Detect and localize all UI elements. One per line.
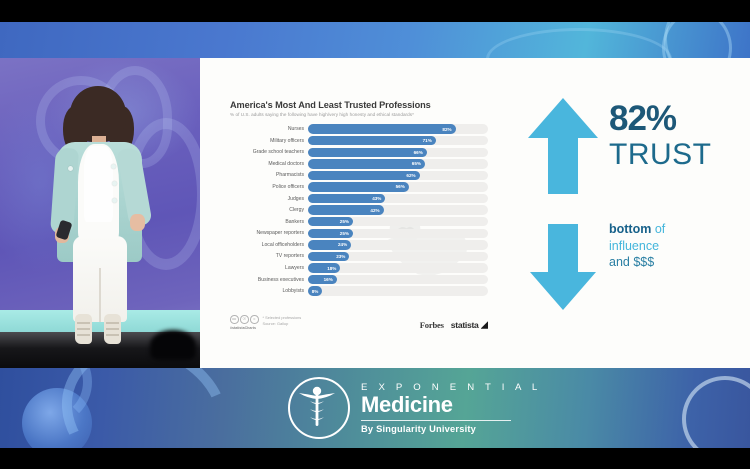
- hair-top: [70, 86, 126, 142]
- chart-row-value: 62%: [406, 173, 419, 178]
- chart-row-bar: 24%: [308, 240, 351, 249]
- by-icon: ☉: [240, 315, 249, 324]
- boot-right: [104, 314, 121, 344]
- footer-notes: * Selected professions Source: Gallup: [263, 315, 302, 326]
- chart-row-track: 71%: [308, 136, 488, 145]
- chart-row-value: 25%: [340, 219, 353, 224]
- chart-row-track: 16%: [308, 275, 488, 284]
- trust-callout: 82% TRUST bottom of influence and $$$: [516, 96, 741, 311]
- chart-row-label: Pharmacists: [230, 170, 308, 180]
- foreground-shadow: [150, 330, 196, 360]
- forbes-logo: Forbes: [420, 320, 444, 330]
- chart-row-bar: 65%: [308, 159, 425, 168]
- hand-right: [130, 214, 145, 231]
- chart-row-track: 25%: [308, 229, 488, 238]
- video-frame: America's Most And Least Trusted Profess…: [0, 0, 750, 469]
- chart-row-label: Judges: [230, 194, 308, 204]
- chart-row: Grade school teachers66%: [230, 147, 488, 157]
- chart-row-value: 43%: [372, 196, 385, 201]
- boot-left: [75, 314, 92, 344]
- blazer-button: [112, 198, 117, 203]
- letterbox-top: [0, 0, 750, 22]
- chart-row-value: 23%: [336, 254, 349, 259]
- chart-row-track: 24%: [308, 240, 488, 249]
- boot-lace: [77, 322, 90, 324]
- bottom-influence-note: bottom of influence and $$$: [609, 221, 665, 271]
- boot-lace: [77, 328, 90, 330]
- chart-row-track: 62%: [308, 171, 488, 180]
- caduceus-icon: [288, 377, 350, 439]
- chart-row-value: 18%: [327, 266, 340, 271]
- trust-heading: 82% TRUST: [609, 100, 712, 171]
- chart-row-label: Police officers: [230, 182, 308, 192]
- chart-row-bar: 71%: [308, 136, 436, 145]
- blazer-button: [112, 181, 117, 186]
- chart-row-value: 56%: [396, 184, 409, 189]
- chart-row-value: 71%: [423, 138, 436, 143]
- chart-body: America's Most And Least Trusted Profess…: [230, 100, 488, 298]
- speaker-person: [44, 86, 156, 341]
- bottom-line-1: bottom of: [609, 221, 665, 238]
- chart-row-track: 18%: [308, 263, 488, 272]
- chart-row-track: 25%: [308, 217, 488, 226]
- chart-row-label: Lobbyists: [230, 286, 308, 296]
- chart-footer: cc ☉ = #statistaCharts * Selected profes…: [230, 315, 488, 330]
- statista-logo: statista: [451, 320, 488, 330]
- bottom-of: of: [651, 222, 665, 236]
- caduceus-glyph: [290, 379, 344, 433]
- boot-lace: [106, 328, 119, 330]
- statista-mark-icon: [481, 321, 489, 329]
- chart-row-bar: 25%: [308, 217, 353, 226]
- chart-row-bar: 8%: [308, 286, 322, 295]
- chart-row-value: 42%: [370, 208, 383, 213]
- chart-row-bar: 25%: [308, 229, 353, 238]
- decorative-ring: [682, 376, 750, 448]
- chart-row-label: Nurses: [230, 124, 308, 134]
- chart-row-bar: 43%: [308, 194, 385, 203]
- chart-row-value: 66%: [414, 150, 427, 155]
- chart-row-bar: 18%: [308, 263, 340, 272]
- chart-row: Local officeholders24%: [230, 240, 488, 250]
- blazer-button: [68, 166, 73, 171]
- chart-row: Medical doctors65%: [230, 159, 488, 169]
- chart-row: Newspaper reporters25%: [230, 228, 488, 238]
- arrow-down-icon: [526, 222, 600, 312]
- statista-wordmark: statista: [451, 320, 479, 330]
- chart-row-track: 43%: [308, 194, 488, 203]
- bottom-line-3: and $$$: [609, 254, 665, 271]
- swirl-shape: [486, 28, 672, 58]
- chart-row-bar: 66%: [308, 148, 427, 157]
- chart-row-label: Bankers: [230, 217, 308, 227]
- chart-row-track: 65%: [308, 159, 488, 168]
- chart-row-bar: 82%: [308, 124, 456, 133]
- chart-row: Bankers25%: [230, 217, 488, 227]
- chart-row-value: 65%: [412, 161, 425, 166]
- boot-lace: [77, 334, 90, 336]
- cc-icon: cc: [230, 315, 239, 324]
- leg-separation: [99, 268, 101, 322]
- exponential-medicine-logo: E X P O N E N T I A L Medicine By Singul…: [288, 377, 541, 439]
- chart-row-track: 8%: [308, 286, 488, 295]
- chart-row-bar: 42%: [308, 205, 384, 214]
- chart-row: Lobbyists8%: [230, 286, 488, 296]
- chart-row: Nurses82%: [230, 124, 488, 134]
- trust-label: TRUST: [609, 138, 712, 171]
- chart-row-label: Medical doctors: [230, 159, 308, 169]
- bottom-word: bottom: [609, 222, 651, 236]
- footer-logos: Forbes statista: [420, 320, 488, 330]
- chart-row: Military officers71%: [230, 136, 488, 146]
- chart-row-label: Local officeholders: [230, 240, 308, 250]
- footer-left: cc ☉ = #statistaCharts * Selected profes…: [230, 315, 301, 330]
- chart-row-value: 8%: [312, 289, 323, 294]
- chart-row-bar: 56%: [308, 182, 409, 191]
- chart-row: Police officers56%: [230, 182, 488, 192]
- chart-row: Business executives16%: [230, 275, 488, 285]
- chart-row-bar: 62%: [308, 171, 420, 180]
- chart-row-value: 82%: [442, 127, 455, 132]
- chart-row-label: Newspaper reporters: [230, 228, 308, 238]
- cc-icon-row: cc ☉ =: [230, 315, 259, 324]
- nd-icon: =: [250, 315, 259, 324]
- chart-row-value: 25%: [340, 231, 353, 236]
- chart-row-track: 56%: [308, 182, 488, 191]
- statista-chart: America's Most And Least Trusted Profess…: [203, 62, 503, 352]
- arrow-up-icon: [526, 96, 600, 196]
- blazer-button: [111, 164, 116, 169]
- swirl-shape: [662, 22, 732, 58]
- chart-row-label: Military officers: [230, 136, 308, 146]
- chart-row-label: Clergy: [230, 205, 308, 215]
- footnote-selected-professions: * Selected professions: [263, 315, 302, 321]
- boot-lace: [106, 322, 119, 324]
- chart-rows: Nurses82%Military officers71%Grade schoo…: [230, 124, 488, 296]
- chart-title: America's Most And Least Trusted Profess…: [230, 100, 488, 110]
- chart-row-track: 82%: [308, 124, 488, 133]
- chart-subtitle: % of U.S. adults saying the following ha…: [230, 112, 488, 117]
- arrow-column: [526, 96, 600, 312]
- footnote-source: Source: Gallup: [263, 321, 302, 327]
- brand-medicine: Medicine: [361, 393, 541, 417]
- chart-row-label: Lawyers: [230, 263, 308, 273]
- chart-row-track: 42%: [308, 205, 488, 214]
- bottom-line-2: influence: [609, 238, 665, 255]
- brand-divider: [361, 420, 511, 421]
- chart-row-track: 23%: [308, 252, 488, 261]
- speaker-video-inset: [0, 58, 200, 368]
- chart-row-label: Business executives: [230, 275, 308, 285]
- chart-row: Clergy42%: [230, 205, 488, 215]
- letterbox-bottom: [0, 448, 750, 469]
- chart-row-value: 24%: [338, 242, 351, 247]
- statista-hashtag: #statistaCharts: [230, 326, 256, 330]
- inner-top: [84, 146, 113, 222]
- chart-row-label: Grade school teachers: [230, 147, 308, 157]
- chart-row-track: 66%: [308, 148, 488, 157]
- chart-row: Judges43%: [230, 193, 488, 203]
- chart-row: Pharmacists62%: [230, 170, 488, 180]
- trust-percent: 82%: [609, 100, 712, 138]
- chart-row: TV reporters23%: [230, 251, 488, 261]
- brand-subtitle: By Singularity University: [361, 424, 541, 434]
- chart-row: Lawyers18%: [230, 263, 488, 273]
- top-decorative-band: [0, 22, 750, 58]
- brand-text: E X P O N E N T I A L Medicine By Singul…: [361, 382, 541, 434]
- boot-lace: [106, 334, 119, 336]
- chart-row-bar: 16%: [308, 275, 337, 284]
- brand-band: E X P O N E N T I A L Medicine By Singul…: [0, 368, 750, 448]
- chart-row-bar: 23%: [308, 252, 349, 261]
- chart-row-value: 16%: [324, 277, 337, 282]
- chart-row-label: TV reporters: [230, 251, 308, 261]
- creative-commons-group: cc ☉ = #statistaCharts: [230, 315, 259, 330]
